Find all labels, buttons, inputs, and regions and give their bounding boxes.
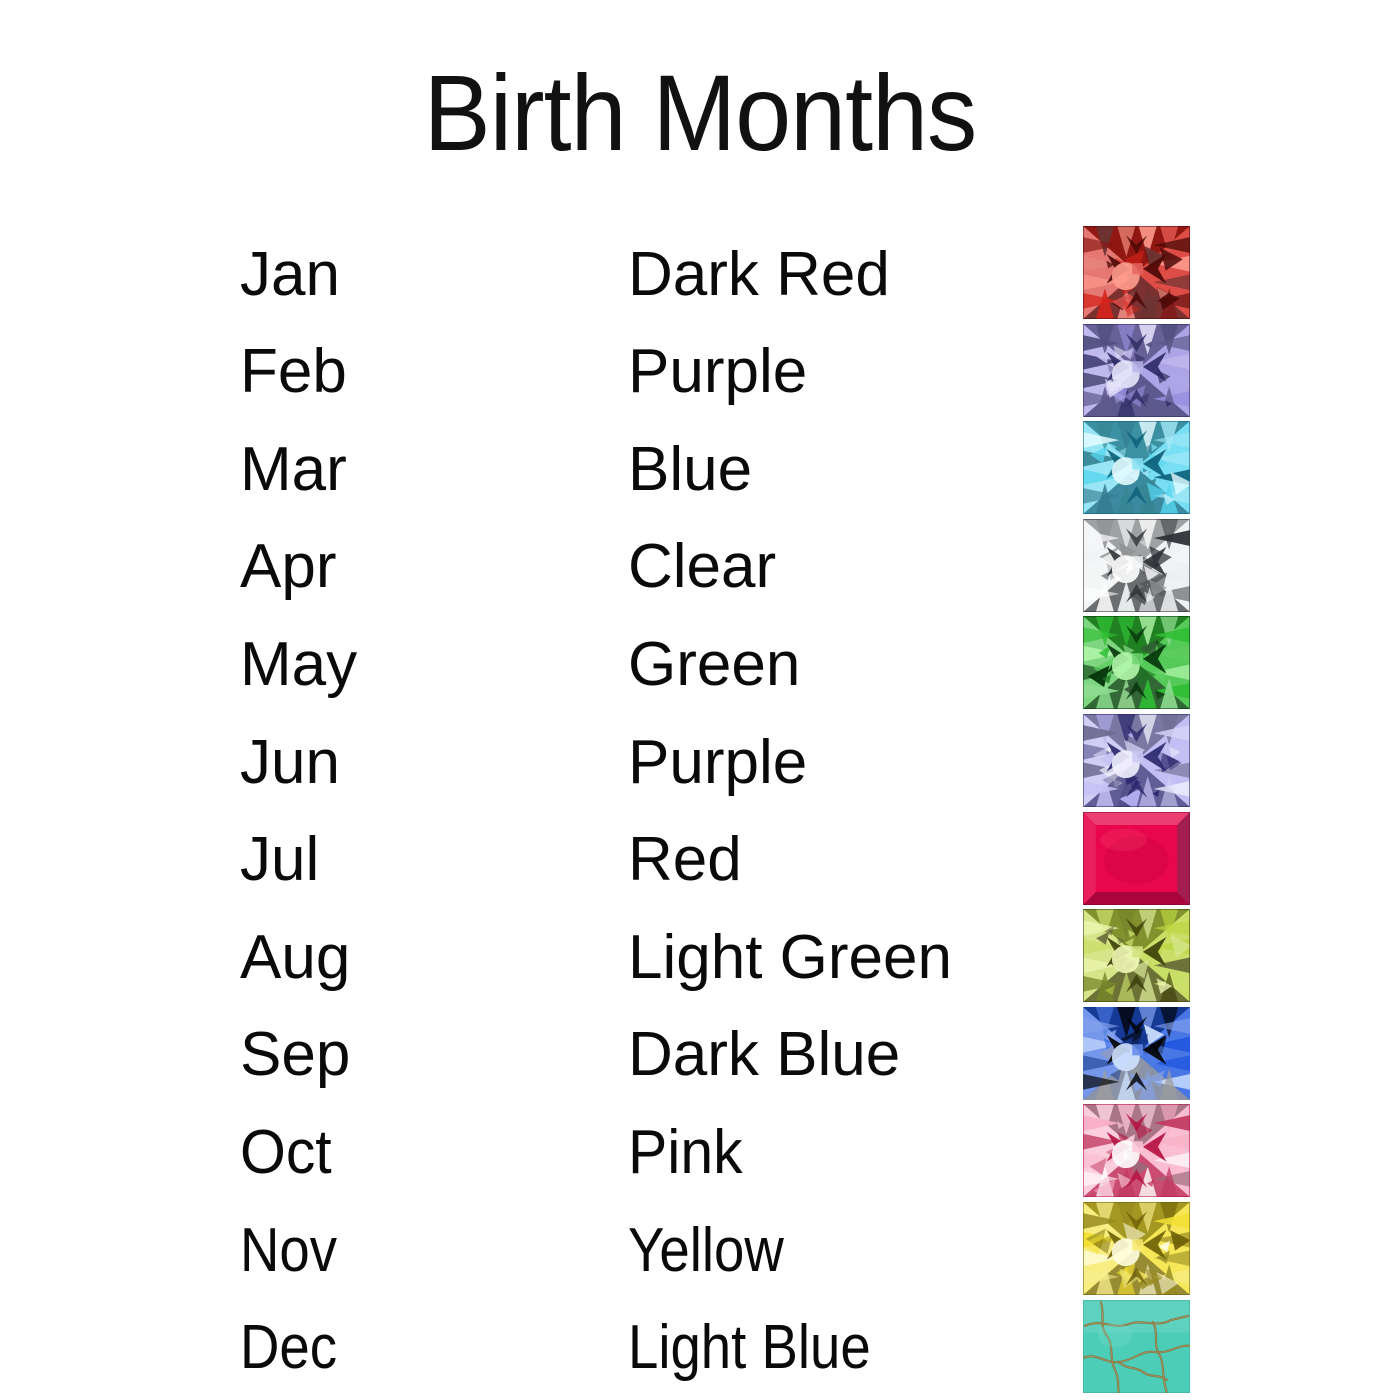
aquamarine-gem-art	[1083, 421, 1190, 514]
month-label: Aug	[240, 927, 350, 989]
month-label: Nov	[240, 1220, 337, 1282]
garnet-gem	[1083, 226, 1190, 319]
month-label: Jan	[240, 244, 340, 306]
color-label: Green	[628, 634, 800, 696]
color-label: Dark Blue	[628, 1024, 900, 1086]
amethyst-gem	[1083, 324, 1190, 417]
table-row: FebPurple	[0, 322, 1400, 420]
table-row: JulRed	[0, 810, 1400, 908]
turquoise-gem	[1083, 1300, 1190, 1393]
page-title: Birth Months	[49, 58, 1351, 168]
emerald-gem-art	[1083, 616, 1190, 709]
birth-months-table: JanDark RedFebPurpleMarBlueAprClearMayGr…	[0, 224, 1400, 1395]
month-label: Jun	[240, 732, 340, 794]
citrine-gem-art	[1083, 1202, 1190, 1295]
table-row: DecLight Blue	[0, 1298, 1400, 1396]
color-label: Light Green	[628, 927, 952, 989]
color-label: Red	[628, 829, 742, 891]
color-label: Dark Red	[628, 244, 890, 306]
peridot-gem	[1083, 909, 1190, 1002]
amethyst-gem-art	[1083, 324, 1190, 417]
color-label: Pink	[628, 1122, 743, 1184]
ruby-gem	[1083, 812, 1190, 905]
table-row: AprClear	[0, 517, 1400, 615]
color-label: Purple	[628, 341, 807, 403]
table-row: MayGreen	[0, 614, 1400, 712]
color-label: Purple	[628, 732, 807, 794]
aquamarine-gem	[1083, 421, 1190, 514]
table-row: SepDark Blue	[0, 1005, 1400, 1103]
diamond-gem	[1083, 519, 1190, 612]
color-label: Blue	[628, 439, 752, 501]
color-label: Light Blue	[628, 1317, 871, 1379]
table-row: MarBlue	[0, 419, 1400, 517]
sapphire-gem-art	[1083, 1007, 1190, 1100]
month-label: Apr	[240, 536, 336, 598]
citrine-gem	[1083, 1202, 1190, 1295]
month-label: Jul	[240, 829, 319, 891]
diamond-gem-art	[1083, 519, 1190, 612]
month-label: Mar	[240, 439, 347, 501]
birth-months-page: Birth Months JanDark RedFebPurpleMarBlue…	[0, 0, 1400, 1400]
month-label: Sep	[240, 1024, 350, 1086]
tourmaline-gem-art	[1083, 1104, 1190, 1197]
peridot-gem-art	[1083, 909, 1190, 1002]
table-row: JanDark Red	[0, 224, 1400, 322]
month-label: May	[240, 634, 357, 696]
ruby-gem-art	[1083, 812, 1190, 905]
alexandrite-gem	[1083, 714, 1190, 807]
tourmaline-gem	[1083, 1104, 1190, 1197]
table-row: NovYellow	[0, 1200, 1400, 1298]
month-label: Dec	[240, 1317, 337, 1379]
month-label: Feb	[240, 341, 347, 403]
table-row: OctPink	[0, 1102, 1400, 1200]
garnet-gem-art	[1083, 226, 1190, 319]
color-label: Clear	[628, 536, 776, 598]
table-row: JunPurple	[0, 712, 1400, 810]
color-label: Yellow	[628, 1220, 784, 1282]
month-label: Oct	[240, 1122, 332, 1184]
alexandrite-gem-art	[1083, 714, 1190, 807]
turquoise-gem-art	[1083, 1300, 1190, 1393]
table-row: AugLight Green	[0, 907, 1400, 1005]
emerald-gem	[1083, 616, 1190, 709]
sapphire-gem	[1083, 1007, 1190, 1100]
